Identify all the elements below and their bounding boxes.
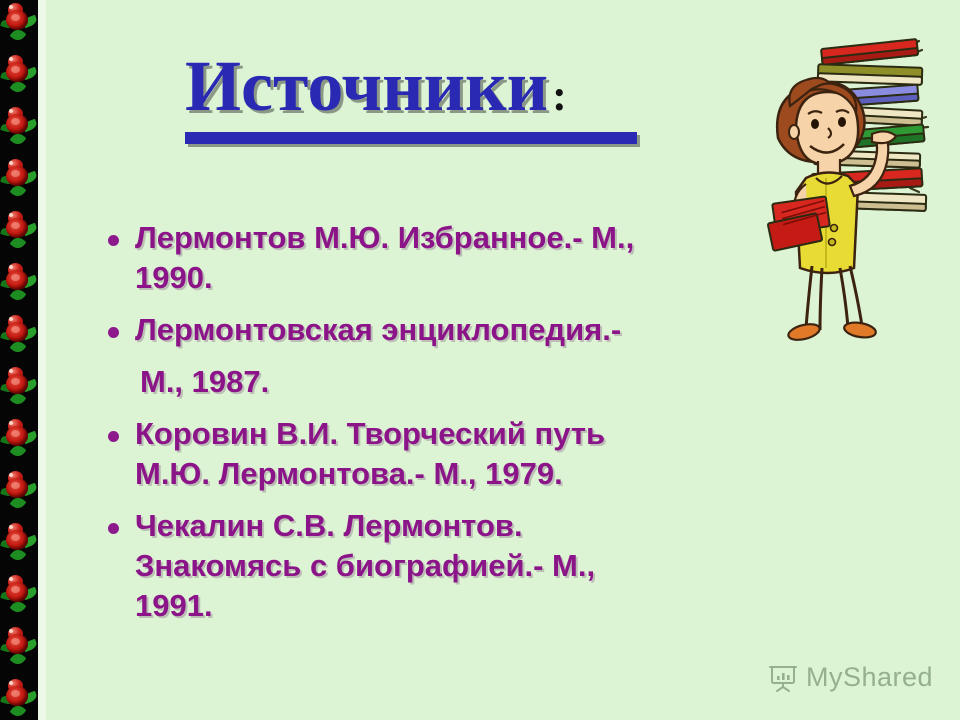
rose-icon xyxy=(0,308,38,360)
title-block: Источники : xyxy=(185,46,645,126)
rose-icon xyxy=(0,516,38,568)
rose-icon xyxy=(0,204,38,256)
shoe-right xyxy=(843,320,877,339)
title-row: Источники : xyxy=(185,46,645,126)
rose-icon xyxy=(0,0,38,48)
border-gap-divider xyxy=(38,0,46,720)
shoe-left xyxy=(787,321,821,342)
list-item-line: М.Ю. Лермонтова.- М., 1979. xyxy=(135,454,800,494)
rose-border-decoration xyxy=(0,0,38,720)
rose-icon xyxy=(0,412,38,464)
list-item: Коровин В.И. Творческий путь М.Ю. Лермон… xyxy=(100,414,800,494)
leg-right xyxy=(840,268,848,328)
watermark-label: MyShared xyxy=(806,662,933,693)
rose-icon xyxy=(0,256,38,308)
rose-icon xyxy=(0,48,38,100)
eye-right xyxy=(838,117,846,127)
list-item-line: Лермонтовская энциклопедия.- xyxy=(135,310,800,350)
list-item-line: 1990. xyxy=(135,258,800,298)
eye-left xyxy=(811,119,819,129)
list-item-line: Чекалин С.В. Лермонтов. xyxy=(135,506,800,546)
rose-icon xyxy=(0,152,38,204)
bullet-dot-icon xyxy=(108,523,119,534)
list-item-line: Коровин В.И. Творческий путь xyxy=(135,414,800,454)
rose-icon xyxy=(0,672,38,720)
rose-icon xyxy=(0,620,38,672)
rose-icon xyxy=(0,360,38,412)
list-item-continuation: М., 1987. xyxy=(100,362,800,402)
rose-icon xyxy=(0,568,38,620)
leg-left xyxy=(806,266,812,328)
presentation-chart-icon xyxy=(768,663,798,693)
list-item: Лермонтов М.Ю. Избранное.- М., 1990. xyxy=(100,218,800,298)
list-item: Чекалин С.В. Лермонтов. Знакомясь с биог… xyxy=(100,506,800,626)
slide-canvas: Источники : Лермонтов М.Ю. Избранное.- М… xyxy=(0,0,960,720)
bullet-dot-icon xyxy=(108,327,119,338)
list-item-line: Знакомясь с биографией.- М., xyxy=(135,546,800,586)
myshared-watermark: MyShared xyxy=(768,662,933,693)
title-colon: : xyxy=(552,74,567,118)
rose-icon xyxy=(0,100,38,152)
bullet-dot-icon xyxy=(108,235,119,246)
girl-balancing-books-image xyxy=(760,28,960,348)
rose-icon xyxy=(0,464,38,516)
bullet-dot-icon xyxy=(108,431,119,442)
sources-list: Лермонтов М.Ю. Избранное.- М., 1990. Лер… xyxy=(100,218,800,638)
page-title: Источники xyxy=(185,46,548,126)
list-item: Лермонтовская энциклопедия.- xyxy=(100,310,800,350)
list-item-line: Лермонтов М.Ю. Избранное.- М., xyxy=(135,218,800,258)
title-underline-bar xyxy=(185,132,637,144)
list-item-line: 1991. xyxy=(135,586,800,626)
